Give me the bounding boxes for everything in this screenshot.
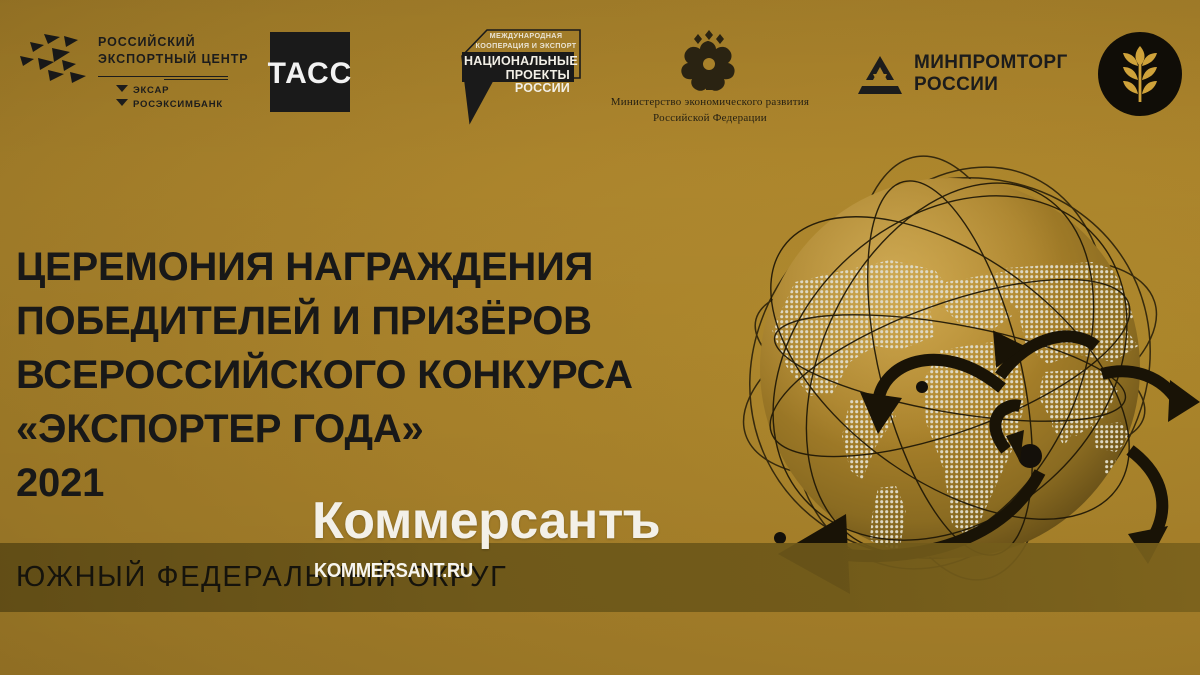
rec-wordmark-line2: ЭКСПОРТНЫЙ ЦЕНТР bbox=[98, 51, 249, 68]
headline-line-2: ПОБЕДИТЕЛЕЙ И ПРИЗЁРОВ bbox=[16, 294, 716, 348]
event-headline: ЦЕРЕМОНИЯ НАГРАЖДЕНИЯ ПОБЕДИТЕЛЕЙ И ПРИЗ… bbox=[16, 240, 716, 510]
rec-divider-2 bbox=[164, 79, 228, 80]
minpromtorg-line1: МИНПРОМТОРГ bbox=[914, 52, 1068, 74]
kommersant-watermark-brand: Коммерсантъ bbox=[312, 495, 660, 547]
rec-wordmark-line1: РОССИЙСКИЙ bbox=[98, 34, 249, 51]
rec-bullet-icon bbox=[116, 85, 128, 92]
banner-canvas: РОССИЙСКИЙ ЭКСПОРТНЫЙ ЦЕНТР ЭКСАР РОСЭКС… bbox=[0, 0, 1200, 675]
rec-divider bbox=[98, 76, 228, 77]
np-wordmark-line2: ПРОЕКТЫ bbox=[464, 69, 570, 83]
logo-ministry-economic-development: Министерство экономического развития Рос… bbox=[590, 26, 830, 126]
np-wordmark-line3: РОССИИ bbox=[464, 82, 570, 96]
headline-line-3: ВСЕРОССИЙСКОГО КОНКУРСА bbox=[16, 348, 716, 402]
np-tagline-line2: КООПЕРАЦИЯ И ЭКСПОРТ bbox=[470, 41, 582, 51]
np-tagline-line1: МЕЖДУНАРОДНАЯ bbox=[470, 31, 582, 41]
np-wordmark-line1: НАЦИОНАЛЬНЫЕ bbox=[464, 55, 570, 69]
rec-sub-exiar: ЭКСАР bbox=[133, 85, 169, 96]
minpromtorg-triangle-icon bbox=[856, 54, 904, 98]
grain-circle bbox=[1098, 32, 1182, 116]
rec-wordmark: РОССИЙСКИЙ ЭКСПОРТНЫЙ ЦЕНТР bbox=[98, 34, 249, 68]
rec-bullet-icon bbox=[116, 99, 128, 106]
ministry-line1: Министерство экономического развития bbox=[590, 94, 830, 110]
russian-double-eagle-crest-icon bbox=[676, 26, 742, 96]
tass-box: ТАСС bbox=[270, 32, 350, 112]
kommersant-watermark-url: KOMMERSANT.RU bbox=[314, 560, 473, 582]
logo-grain-emblem bbox=[1098, 32, 1182, 116]
wheat-ear-icon bbox=[1098, 32, 1182, 116]
headline-line-4: «ЭКСПОРТЕР ГОДА» bbox=[16, 402, 716, 456]
rec-sub-roseximbank: РОСЭКСИМБАНК bbox=[133, 99, 223, 110]
logo-minpromtorg: МИНПРОМТОРГ РОССИИ bbox=[856, 50, 1086, 106]
rec-triangles-icon bbox=[18, 32, 90, 84]
partner-logo-bar: РОССИЙСКИЙ ЭКСПОРТНЫЙ ЦЕНТР ЭКСАР РОСЭКС… bbox=[0, 0, 1200, 140]
logo-national-projects: МЕЖДУНАРОДНАЯ КООПЕРАЦИЯ И ЭКСПОРТ НАЦИО… bbox=[432, 26, 582, 126]
logo-tass: ТАСС bbox=[270, 32, 350, 112]
ministry-wordmark: Министерство экономического развития Рос… bbox=[590, 94, 830, 126]
rec-subbrands: ЭКСАР РОСЭКСИМБАНК bbox=[116, 84, 223, 112]
tass-wordmark: ТАСС bbox=[268, 59, 353, 89]
headline-line-1: ЦЕРЕМОНИЯ НАГРАЖДЕНИЯ bbox=[16, 240, 716, 294]
minpromtorg-wordmark: МИНПРОМТОРГ РОССИИ bbox=[914, 52, 1068, 96]
national-projects-tagline: МЕЖДУНАРОДНАЯ КООПЕРАЦИЯ И ЭКСПОРТ bbox=[470, 31, 582, 51]
minpromtorg-line2: РОССИИ bbox=[914, 74, 1068, 96]
ministry-line2: Российской Федерации bbox=[590, 110, 830, 126]
national-projects-wordmark: НАЦИОНАЛЬНЫЕ ПРОЕКТЫ РОССИИ bbox=[464, 55, 576, 96]
logo-russian-export-center: РОССИЙСКИЙ ЭКСПОРТНЫЙ ЦЕНТР ЭКСАР РОСЭКС… bbox=[14, 28, 234, 118]
